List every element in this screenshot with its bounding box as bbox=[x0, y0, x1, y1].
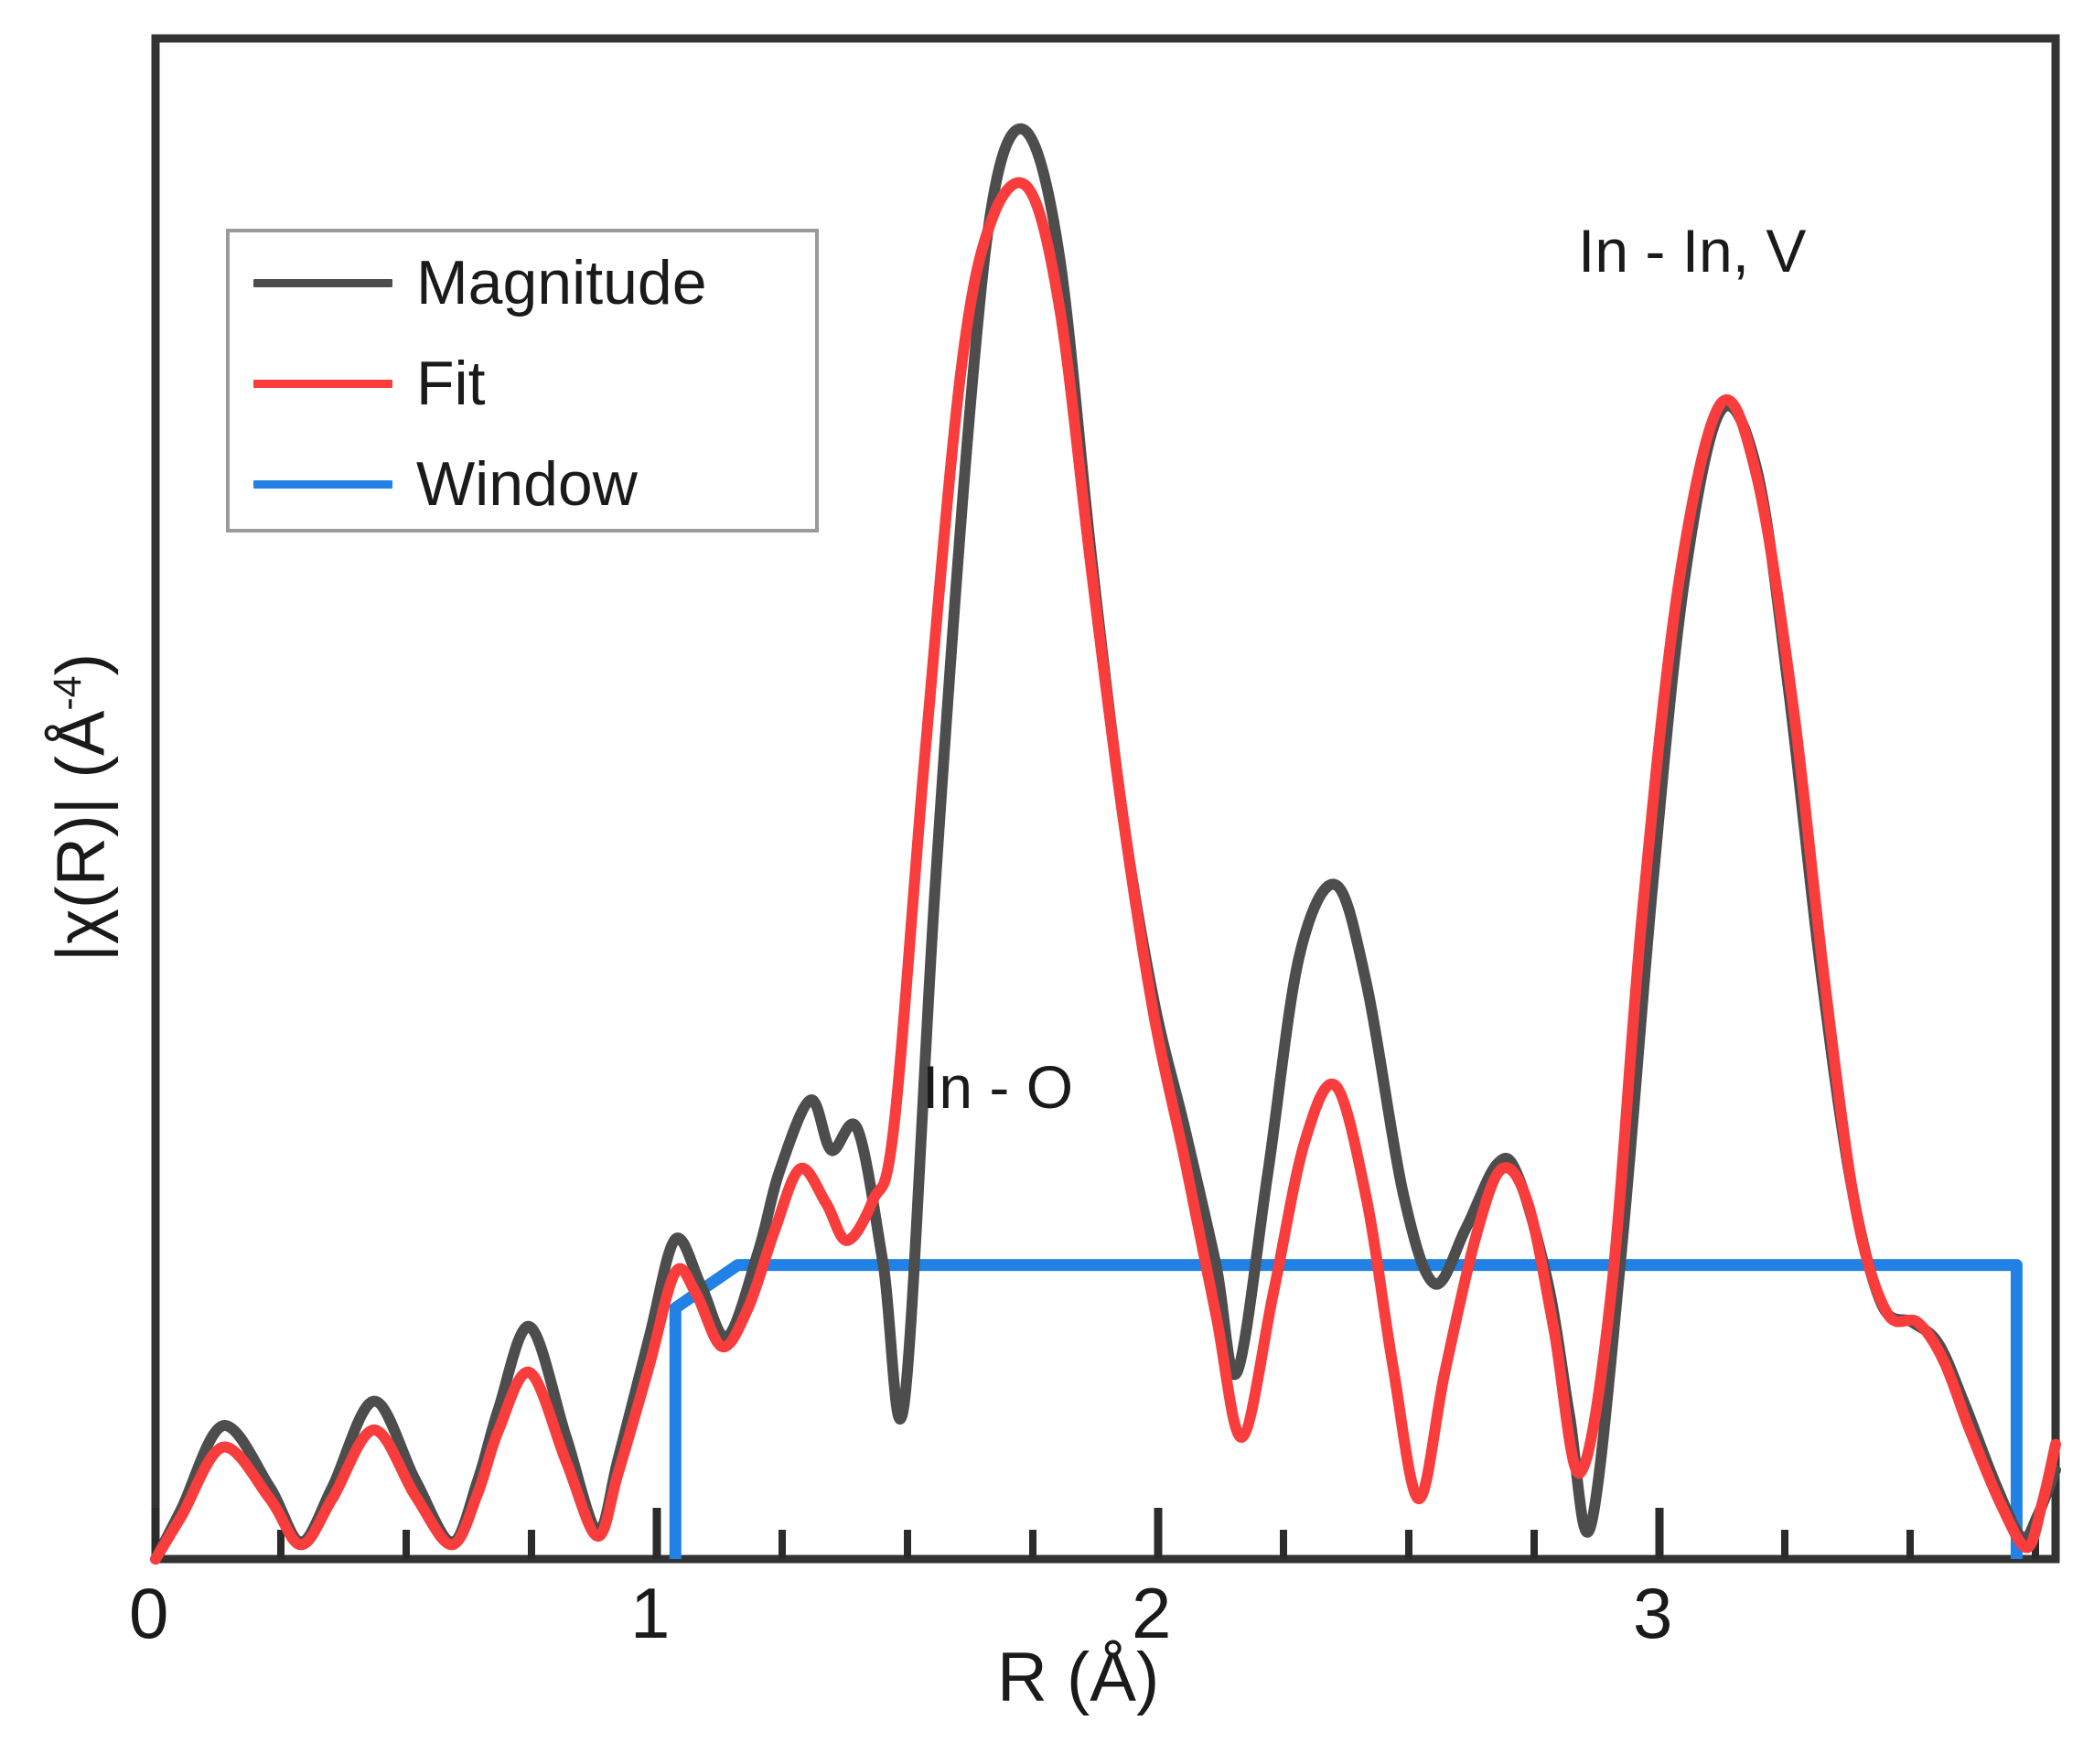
legend-label-magnitude: Magnitude bbox=[416, 252, 707, 314]
x-tick-label-1: 1 bbox=[630, 1572, 670, 1655]
legend-item-magnitude[interactable]: Magnitude bbox=[230, 232, 815, 333]
y-axis-label: |χ(R)| (Å-4) bbox=[42, 515, 120, 1101]
legend-box: Magnitude Fit Window bbox=[226, 229, 819, 532]
x-tick-label-0: 0 bbox=[129, 1572, 168, 1655]
legend-label-fit: Fit bbox=[416, 352, 486, 414]
annotation-in-in-v: In - In, V bbox=[1578, 216, 1806, 285]
y-axis-label-exponent: -4 bbox=[46, 675, 90, 710]
x-tick-label-3: 3 bbox=[1633, 1572, 1672, 1655]
y-axis-label-prefix: |χ(R)| (Å bbox=[43, 711, 119, 963]
legend-swatch-magnitude bbox=[253, 279, 392, 287]
figure-container: |χ(R)| (Å-4) R (Å) 0 1 2 3 In - O In - I… bbox=[0, 0, 2094, 1764]
legend-swatch-fit bbox=[253, 380, 392, 388]
y-axis-label-suffix: ) bbox=[43, 653, 119, 676]
legend-item-window[interactable]: Window bbox=[230, 434, 815, 534]
x-tick-label-2: 2 bbox=[1132, 1572, 1171, 1655]
annotation-in-o: In - O bbox=[922, 1052, 1073, 1122]
legend-label-window: Window bbox=[416, 453, 638, 515]
legend-item-fit[interactable]: Fit bbox=[230, 333, 815, 434]
legend-swatch-window bbox=[253, 480, 392, 489]
